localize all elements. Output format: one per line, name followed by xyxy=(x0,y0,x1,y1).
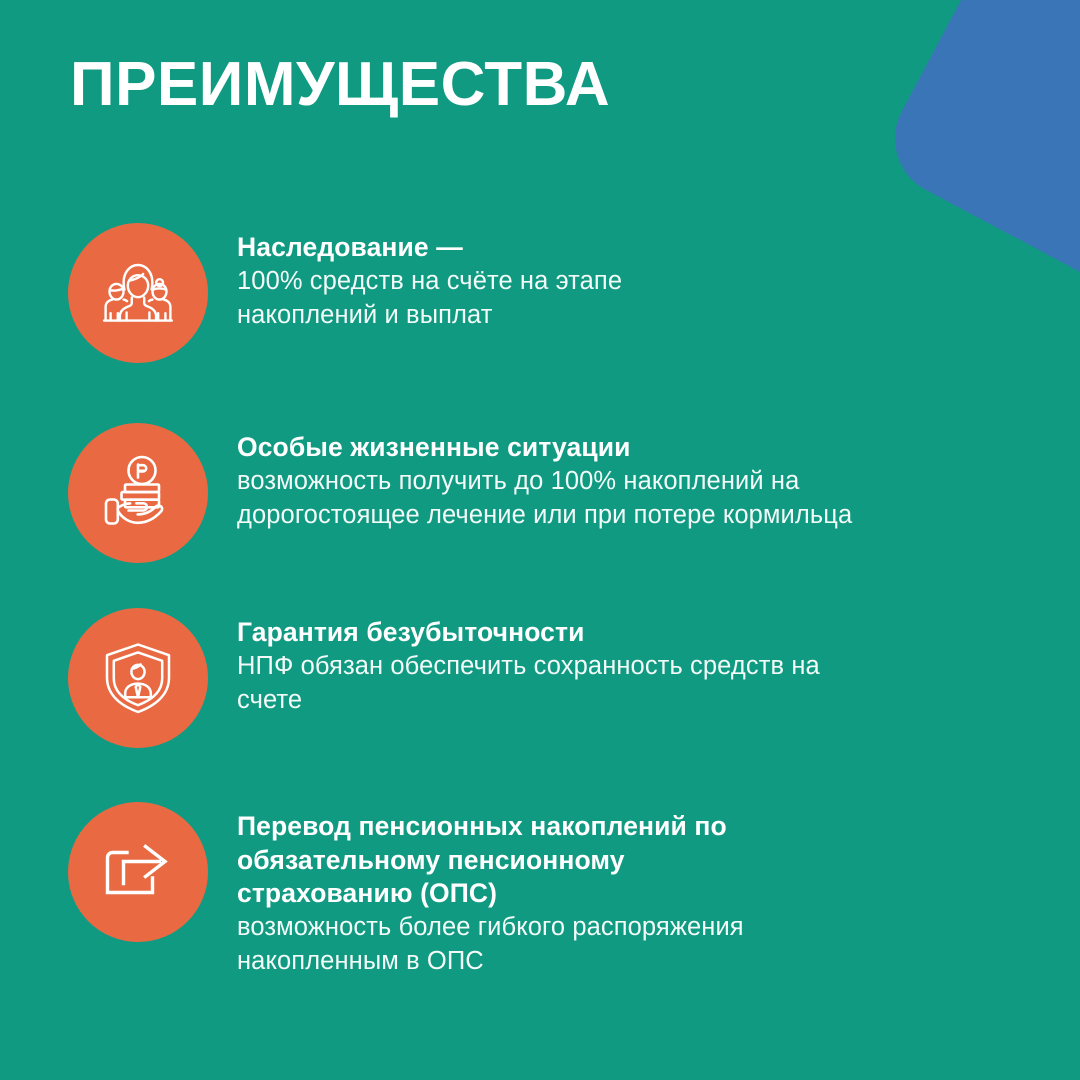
benefit-heading: Гарантия безубыточности xyxy=(237,616,877,650)
list-item: Наследование — 100% средств на счёте на … xyxy=(68,223,707,363)
list-item: Перевод пенсионных накоплений по обязате… xyxy=(68,802,852,979)
benefit-text-block: Особые жизненные ситуации возможность по… xyxy=(237,423,862,532)
list-item: Особые жизненные ситуации возможность по… xyxy=(68,423,862,563)
shield-with-person-icon xyxy=(97,637,179,719)
benefit-text-block: Наследование — 100% средств на счёте на … xyxy=(237,223,707,332)
list-item: Гарантия безубыточности НПФ обязан обесп… xyxy=(68,608,877,748)
hand-with-ruble-coins-icon xyxy=(95,450,181,536)
transfer-out-arrow-icon xyxy=(96,830,180,914)
benefit-icon-badge xyxy=(68,802,208,942)
benefit-heading: Наследование — xyxy=(237,231,707,265)
benefit-icon-badge xyxy=(68,223,208,363)
benefit-description: возможность более гибкого распоряжения н… xyxy=(237,911,852,979)
benefit-heading: Перевод пенсионных накоплений по обязате… xyxy=(237,810,807,911)
benefit-icon-badge xyxy=(68,423,208,563)
benefit-heading: Особые жизненные ситуации xyxy=(237,431,862,465)
benefit-icon-badge xyxy=(68,608,208,748)
benefit-description: возможность получить до 100% накоплений … xyxy=(237,465,862,533)
family-group-icon xyxy=(96,251,180,335)
benefit-description: НПФ обязан обеспечить сохранность средст… xyxy=(237,650,877,718)
benefit-text-block: Гарантия безубыточности НПФ обязан обесп… xyxy=(237,608,877,717)
benefit-description: 100% средств на счёте на этапе накоплени… xyxy=(237,265,707,333)
benefit-text-block: Перевод пенсионных накоплений по обязате… xyxy=(237,802,852,979)
benefits-list: Наследование — 100% средств на счёте на … xyxy=(0,0,1080,1080)
